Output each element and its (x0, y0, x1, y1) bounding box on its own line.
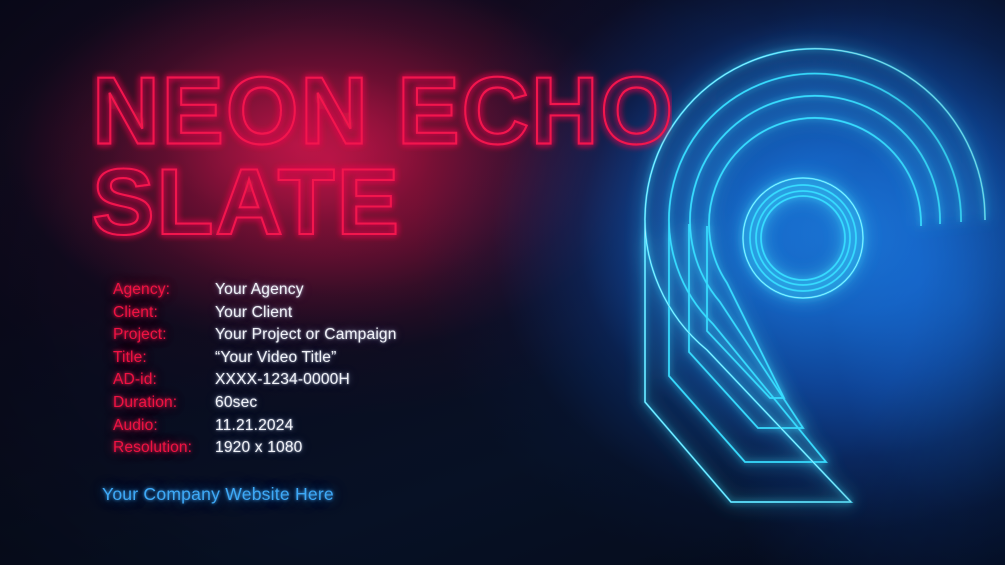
nine-counter-1 (743, 178, 863, 298)
nine-outline-group (645, 49, 985, 502)
title-glow-group: NEON ECHO SLATE (92, 66, 672, 254)
nine-counter-4 (761, 196, 845, 280)
meta-row-resolution: Resolution: 1920 x 1080 (113, 437, 543, 460)
meta-label-project: Project: (113, 324, 215, 347)
meta-row-title: Title: “Your Video Title” (113, 347, 543, 370)
company-website-link[interactable]: Your Company Website Here (102, 484, 334, 505)
nine-ring-4 (707, 118, 921, 398)
meta-value-title: “Your Video Title” (215, 347, 336, 370)
title-line-2: SLATE (92, 149, 401, 254)
meta-value-agency: Your Agency (215, 279, 304, 302)
meta-row-project: Project: Your Project or Campaign (113, 324, 543, 347)
nine-halo-group (645, 49, 985, 502)
meta-value-resolution: 1920 x 1080 (215, 437, 303, 460)
meta-label-resolution: Resolution: (113, 437, 215, 460)
nine-counter-3 (756, 191, 850, 285)
slate-canvas: NEON ECHO SLATE Agency: Your Agency Clie… (0, 0, 1005, 565)
nine-core-group (645, 49, 985, 502)
meta-row-agency: Agency: Your Agency (113, 279, 543, 302)
title-svg: NEON ECHO SLATE (92, 66, 672, 256)
meta-label-agency: Agency: (113, 279, 215, 302)
meta-label-client: Client: (113, 302, 215, 325)
meta-label-audio: Audio: (113, 415, 215, 438)
meta-value-duration: 60sec (215, 392, 257, 415)
meta-row-client: Client: Your Client (113, 302, 543, 325)
nine-ring-3 (689, 96, 940, 428)
nine-ring-1 (645, 49, 985, 502)
meta-label-ad-id: AD-id: (113, 369, 215, 392)
meta-row-audio: Audio: 11.21.2024 (113, 415, 543, 438)
meta-row-ad-id: AD-id: XXXX-1234-0000H (113, 369, 543, 392)
page-title: NEON ECHO SLATE (92, 66, 672, 256)
meta-value-client: Your Client (215, 302, 292, 325)
meta-value-project: Your Project or Campaign (215, 324, 397, 347)
nine-counter-2 (750, 185, 856, 291)
meta-value-ad-id: XXXX-1234-0000H (215, 369, 350, 392)
slate-metadata-list: Agency: Your Agency Client: Your Client … (113, 279, 543, 460)
meta-value-audio: 11.21.2024 (215, 415, 293, 438)
meta-row-duration: Duration: 60sec (113, 392, 543, 415)
meta-label-title: Title: (113, 347, 215, 370)
nine-ring-2 (669, 74, 961, 462)
meta-label-duration: Duration: (113, 392, 215, 415)
